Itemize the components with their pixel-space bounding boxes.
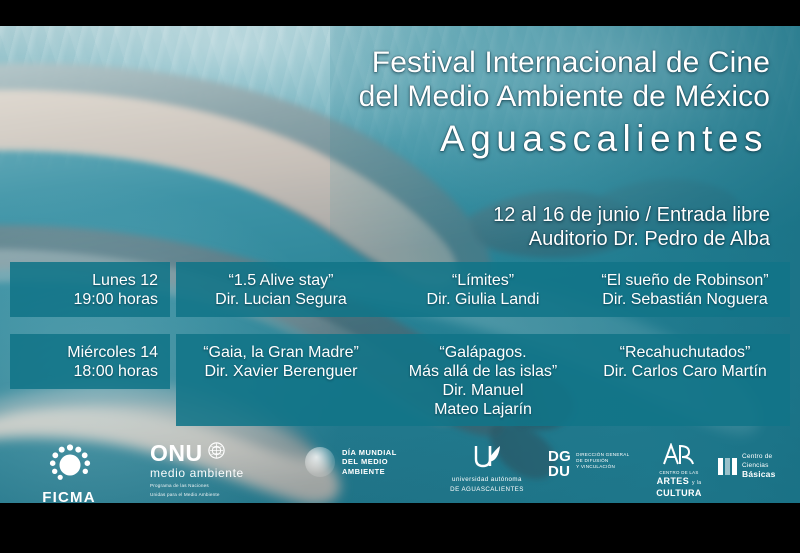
onu-wordmark: ONU (150, 441, 203, 465)
event-venue: Auditorio Dr. Pedro de Alba (250, 227, 770, 251)
film-director: Dir. Lucian Segura (184, 290, 378, 309)
letterbox-top (0, 0, 800, 26)
film-entry: “El sueño de Robinson” Dir. Sebastián No… (584, 271, 786, 307)
artes-word: ARTES (657, 476, 690, 486)
title-city: Aguascalientes (250, 116, 770, 161)
onu-fineprint-2: Unidas para el Medio Ambiente (150, 492, 270, 498)
film-entry: “1.5 Alive stay” Dir. Lucian Segura (180, 271, 382, 307)
film-entry: “Gaia, la Gran Madre” Dir. Xavier Bereng… (180, 343, 382, 416)
festival-poster: Festival Internacional de Cine del Medio… (0, 0, 800, 553)
film-title: “Recahuchutados” (588, 343, 782, 362)
logo-onu-medio-ambiente: ONU medio ambiente Programa de las Nacio… (150, 441, 270, 498)
logo-dgdu: DG DU DIRECCIÓN GENERAL DE DIFUSIÓN Y VI… (548, 449, 658, 479)
sponsor-logos: FICMA ONU medio ambiente Programa de las… (0, 437, 800, 503)
film-director: Dir. Giulia Landi (386, 290, 580, 309)
ccb-line-1: Centro de (742, 453, 798, 462)
letterbox-bottom (0, 503, 800, 553)
title-line-1: Festival Internacional de Cine (250, 46, 770, 80)
dma-line-1: DÍA MUNDIAL (342, 448, 397, 458)
schedule-time: 19:00 horas (18, 290, 158, 309)
film-entry: “Límites” Dir. Giulia Landi (382, 271, 584, 307)
film-title-cont: Más allá de las islas” (386, 362, 580, 381)
cultura-word: CULTURA (648, 488, 710, 498)
film-title: “Galápagos. (386, 343, 580, 362)
schedule-films-cell: “Gaia, la Gran Madre” Dir. Xavier Bereng… (176, 334, 790, 426)
logo-artes-y-cultura: CENTRO DE LAS ARTES y la CULTURA (648, 443, 710, 498)
ficma-sun-icon (46, 441, 92, 487)
schedule-date-cell: Lunes 12 19:00 horas (10, 262, 170, 317)
schedule-time: 18:00 horas (18, 362, 158, 381)
film-title: “Gaia, la Gran Madre” (184, 343, 378, 362)
dgdu-line-3: Y VINCULACIÓN (576, 464, 629, 470)
event-dates: 12 al 16 de junio / Entrada libre (250, 203, 770, 227)
artes-conjunction: y la (692, 480, 701, 486)
logo-ficma: FICMA (14, 441, 124, 506)
dma-line-2: DEL MEDIO (342, 457, 397, 467)
schedule-day: Miércoles 14 (18, 343, 158, 362)
logo-centro-ciencias-basicas: Centro de Ciencias Básicas (718, 453, 798, 481)
ccb-bars-icon (718, 458, 737, 475)
film-title: “El sueño de Robinson” (588, 271, 782, 290)
globe-icon (305, 447, 335, 477)
onu-fineprint-1: Programa de las Naciones (150, 483, 270, 489)
schedule-day: Lunes 12 (18, 271, 158, 290)
dgdu-mono-line-2: DU (548, 464, 571, 479)
film-director: Dir. Sebastián Noguera (588, 290, 782, 309)
film-director: Dir. Manuel (386, 381, 580, 400)
uaa-line-2: DE AGUASCALIENTES (432, 486, 542, 494)
film-entry: “Galápagos. Más allá de las islas” Dir. … (382, 343, 584, 416)
uaa-line-1: universidad autónoma (432, 476, 542, 484)
film-director: Dir. Carlos Caro Martín (588, 362, 782, 381)
dma-line-3: AMBIENTE (342, 467, 397, 477)
onu-subtitle: medio ambiente (150, 466, 270, 480)
ccb-line-2-bold: Básicas (742, 469, 776, 479)
film-entry: “Recahuchutados” Dir. Carlos Caro Martín (584, 343, 786, 416)
dgdu-monogram: DG DU (548, 449, 571, 479)
film-title: “Límites” (386, 271, 580, 290)
film-director-cont: Mateo Lajarín (386, 400, 580, 419)
film-title: “1.5 Alive stay” (184, 271, 378, 290)
title-line-2: del Medio Ambiente de México (250, 80, 770, 114)
un-emblem-icon (208, 442, 225, 464)
dgdu-mono-line-1: DG (548, 449, 571, 464)
schedule-date-cell: Miércoles 14 18:00 horas (10, 334, 170, 389)
logo-universidad-autonoma-aguascalientes: universidad autónoma DE AGUASCALIENTES (432, 443, 542, 494)
event-meta: 12 al 16 de junio / Entrada libre Audito… (250, 203, 770, 251)
artes-monogram-icon (648, 443, 710, 470)
schedule-films-cell: “1.5 Alive stay” Dir. Lucian Segura “Lím… (176, 262, 790, 317)
logo-dia-mundial-medio-ambiente: DÍA MUNDIAL DEL MEDIO AMBIENTE (305, 447, 415, 477)
film-director: Dir. Xavier Berenguer (184, 362, 378, 381)
page-title: Festival Internacional de Cine del Medio… (250, 46, 770, 161)
uaa-emblem-icon (432, 443, 542, 474)
ccb-line-2: Ciencias (742, 462, 769, 469)
